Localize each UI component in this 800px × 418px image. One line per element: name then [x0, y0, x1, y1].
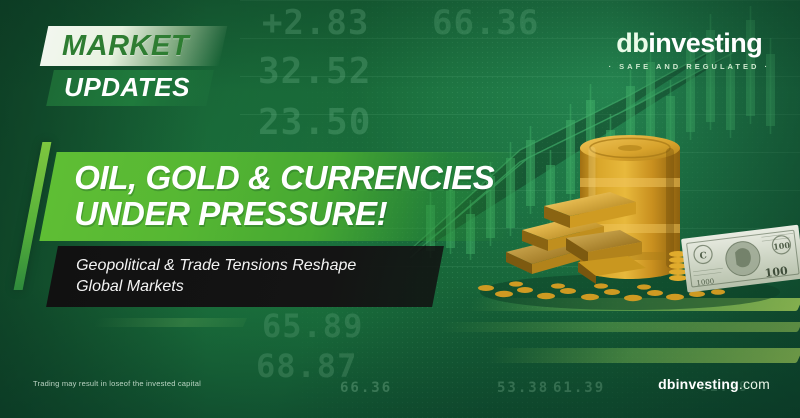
- market-update-banner: +2.83 32.52 23.50 66.36 65.89 68.87 66.3…: [0, 0, 800, 418]
- brand-logo[interactable]: dbinvesting · SAFE AND REGULATED ·: [609, 30, 770, 71]
- gold-bars-graphic: [506, 192, 646, 284]
- website-name: dbinvesting: [658, 376, 739, 392]
- light-streak: [487, 348, 800, 363]
- headline-banner: OIL, GOLD & CURRENCIES UNDER PRESSURE!: [39, 152, 526, 241]
- logo-investing-text: investing: [648, 28, 762, 58]
- ticker-value: 23.50: [258, 105, 371, 141]
- logo-tagline: · SAFE AND REGULATED ·: [609, 62, 770, 71]
- subheadline-line-2: Global Markets: [76, 276, 412, 297]
- ticker-value: 68.87: [256, 350, 357, 382]
- market-updates-badge: MARKET UPDATES: [44, 26, 223, 107]
- subheadline-line-1: Geopolitical & Trade Tensions Reshape: [76, 255, 412, 276]
- light-streak-left: [93, 318, 247, 327]
- ticker-value: +2.83: [262, 6, 369, 40]
- subheadline-banner: Geopolitical & Trade Tensions Reshape Gl…: [46, 246, 444, 307]
- ticker-value: 65.89: [262, 310, 363, 342]
- badge-updates: UPDATES: [46, 70, 214, 106]
- badge-market: MARKET: [40, 26, 228, 66]
- svg-text:100: 100: [773, 240, 791, 252]
- logo-wordmark: dbinvesting: [609, 30, 770, 57]
- logo-db-text: db: [616, 28, 648, 58]
- light-streak: [438, 322, 800, 332]
- ticker-value: 66.36: [340, 381, 392, 395]
- headline-line-1: OIL, GOLD & CURRENCIES: [74, 161, 478, 194]
- risk-disclaimer: Trading may result in loseof the investe…: [33, 379, 201, 388]
- hundred-dollar-bill-graphic: C 100 100 1000: [681, 225, 800, 293]
- badge-updates-label: UPDATES: [64, 74, 190, 101]
- svg-text:C: C: [699, 251, 707, 262]
- headline-line-2: UNDER PRESSURE!: [74, 197, 478, 230]
- website-url[interactable]: dbinvesting.com: [658, 376, 770, 392]
- ticker-value: 66.36: [432, 6, 539, 40]
- ticker-value: 32.52: [258, 54, 371, 90]
- website-tld: .com: [739, 376, 770, 392]
- badge-market-label: MARKET: [62, 31, 189, 61]
- commodities-artwork: C 100 100 1000: [470, 120, 800, 320]
- headline-block: OIL, GOLD & CURRENCIES UNDER PRESSURE! G…: [48, 152, 518, 307]
